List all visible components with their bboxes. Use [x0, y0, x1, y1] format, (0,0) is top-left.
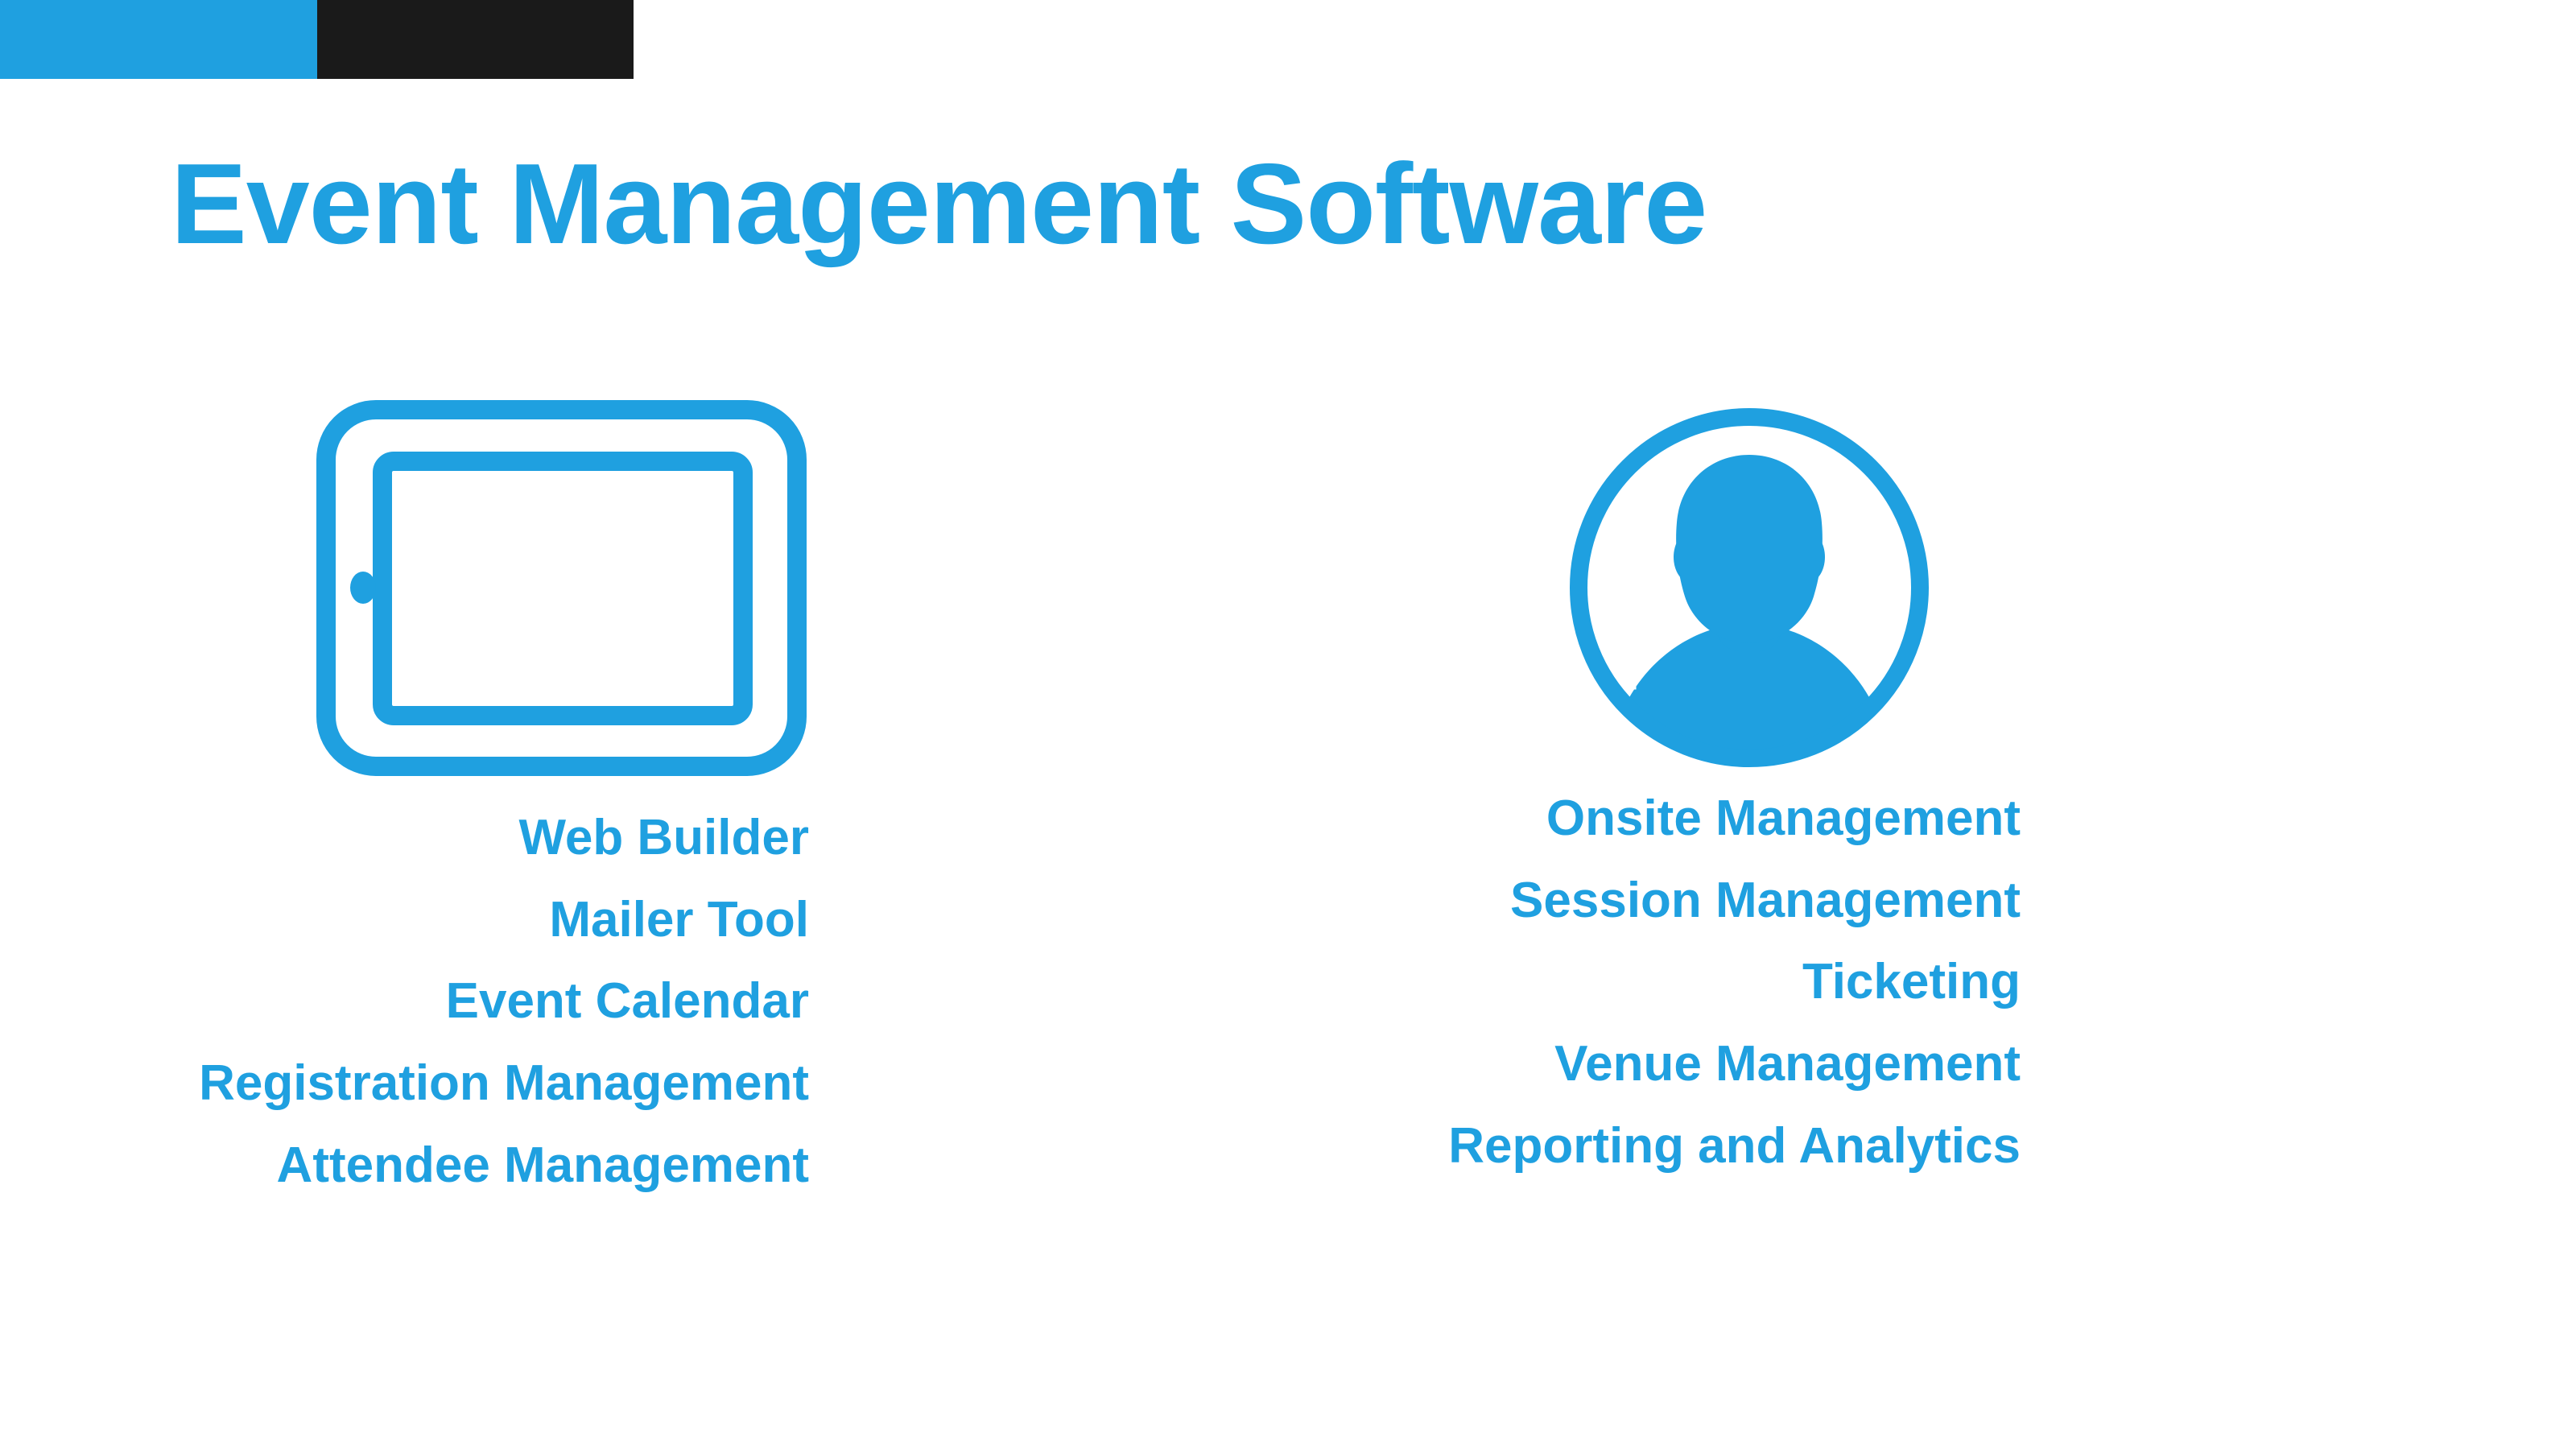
person-avatar-icon-wrap	[1288, 378, 2021, 797]
tablet-icon	[316, 400, 807, 776]
tablet-icon-wrap	[129, 378, 809, 797]
list-item[interactable]: Onsite Management	[1288, 778, 2021, 860]
list-item[interactable]: Event Calendar	[129, 960, 809, 1042]
list-item[interactable]: Venue Management	[1288, 1023, 2021, 1105]
feature-column-right: Onsite Management Session Management Tic…	[1288, 378, 2021, 1187]
feature-column-left: Web Builder Mailer Tool Event Calendar R…	[129, 378, 809, 1206]
list-item[interactable]: Session Management	[1288, 860, 2021, 942]
list-item[interactable]: Attendee Management	[129, 1125, 809, 1207]
list-item[interactable]: Registration Management	[129, 1042, 809, 1125]
blue-accent-bar	[0, 0, 317, 79]
feature-list-right: Onsite Management Session Management Tic…	[1288, 778, 2021, 1187]
black-accent-bar	[317, 0, 634, 79]
person-avatar-icon	[1570, 408, 1929, 767]
slide-canvas: Event Management Software Web Builder Ma…	[0, 0, 2576, 1449]
page-title: Event Management Software	[171, 138, 1707, 270]
feature-list-left: Web Builder Mailer Tool Event Calendar R…	[129, 797, 809, 1206]
list-item[interactable]: Reporting and Analytics	[1288, 1105, 2021, 1187]
list-item[interactable]: Web Builder	[129, 797, 809, 879]
list-item[interactable]: Ticketing	[1288, 941, 2021, 1023]
list-item[interactable]: Mailer Tool	[129, 879, 809, 961]
